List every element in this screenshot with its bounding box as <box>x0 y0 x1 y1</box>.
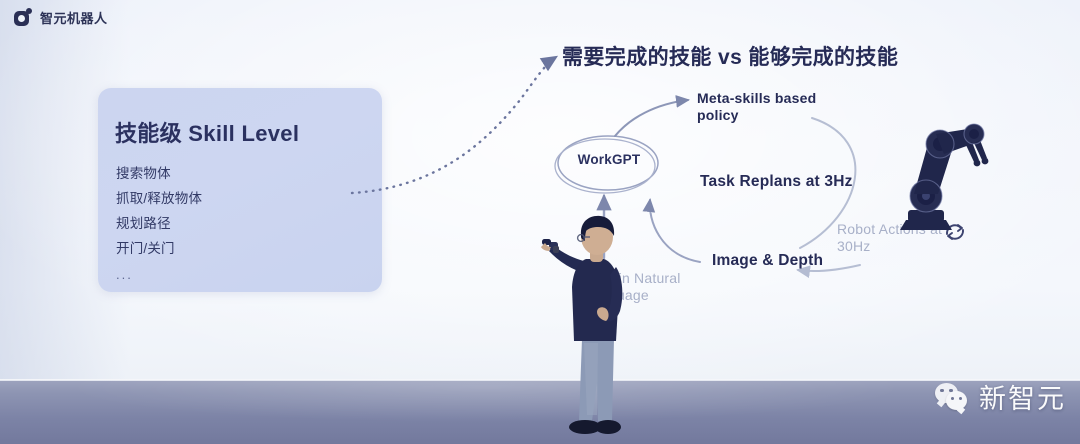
presenter-person <box>540 215 660 444</box>
brand-name: 智元机器人 <box>40 8 108 27</box>
presentation-screenshot: 智元机器人 技能级 Skill Level 搜索物体 抓取/释放物体 规划路径 … <box>0 0 1080 444</box>
list-item: 抓取/释放物体 <box>116 186 202 211</box>
list-item: 规划路径 <box>116 211 202 236</box>
page-title: 需要完成的技能 vs 能够完成的技能 <box>562 41 898 71</box>
wechat-icon <box>935 383 971 411</box>
skill-level-list: 搜索物体 抓取/释放物体 规划路径 开门/关门 ... <box>116 161 202 289</box>
label-image-depth: Image & Depth <box>712 252 823 269</box>
logo-mark-icon <box>14 8 33 27</box>
label-meta-skills-policy: Meta-skills based policy <box>697 90 817 124</box>
label-task-replans: Task Replans at 3Hz <box>700 173 853 190</box>
skill-level-card: 技能级 Skill Level 搜索物体 抓取/释放物体 规划路径 开门/关门 … <box>98 88 382 292</box>
watermark-text: 新智元 <box>979 377 1066 416</box>
brand-logo: 智元机器人 <box>14 8 108 27</box>
channel-watermark: 新智元 <box>935 377 1066 416</box>
list-item: ... <box>116 261 202 289</box>
skill-level-title: 技能级 Skill Level <box>115 116 299 148</box>
robot-arm-icon <box>880 98 990 238</box>
node-workgpt-label: WorkGPT <box>566 152 652 167</box>
list-item: 开门/关门 <box>116 236 202 261</box>
list-item: 搜索物体 <box>116 161 202 186</box>
